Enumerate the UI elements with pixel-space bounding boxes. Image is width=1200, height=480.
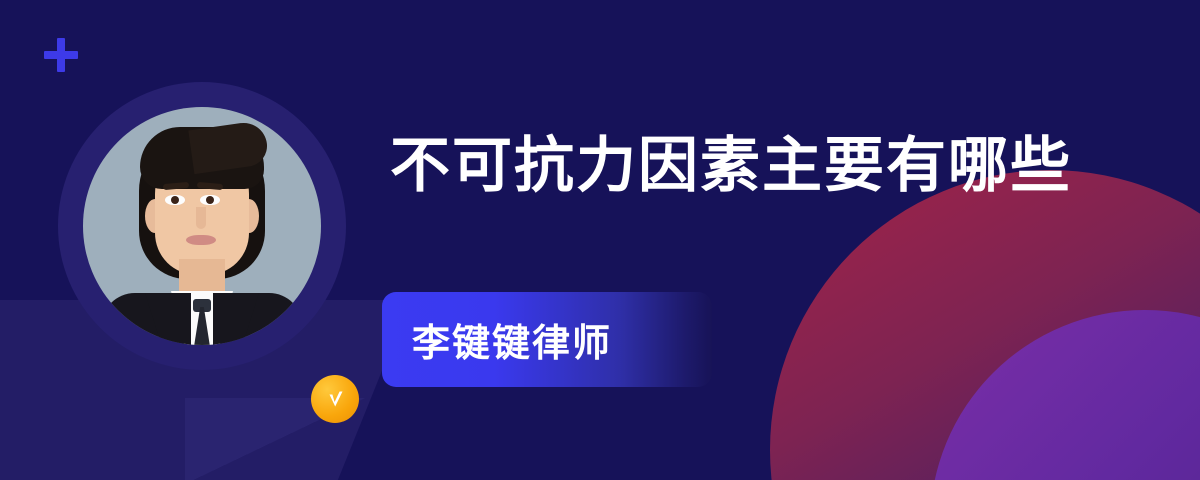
lawyer-name-badge[interactable]: 李键键律师: [382, 292, 712, 387]
portrait-eye-left: [165, 195, 185, 205]
crimson-circle-shape: [770, 170, 1200, 480]
avatar-photo: [83, 107, 321, 345]
verified-check-icon: [311, 375, 359, 423]
page-title: 不可抗力因素主要有哪些: [390, 128, 1072, 204]
lawyer-name-label: 李键键律师: [382, 312, 612, 367]
plus-icon: [42, 36, 80, 74]
portrait-mouth: [186, 235, 216, 245]
lawyer-question-banner: 不可抗力因素主要有哪些 李键键律师: [0, 0, 1200, 480]
portrait-eye-right: [200, 195, 220, 205]
violet-circle-shape: [930, 310, 1200, 480]
avatar[interactable]: [58, 82, 346, 370]
portrait-nose: [196, 207, 206, 229]
